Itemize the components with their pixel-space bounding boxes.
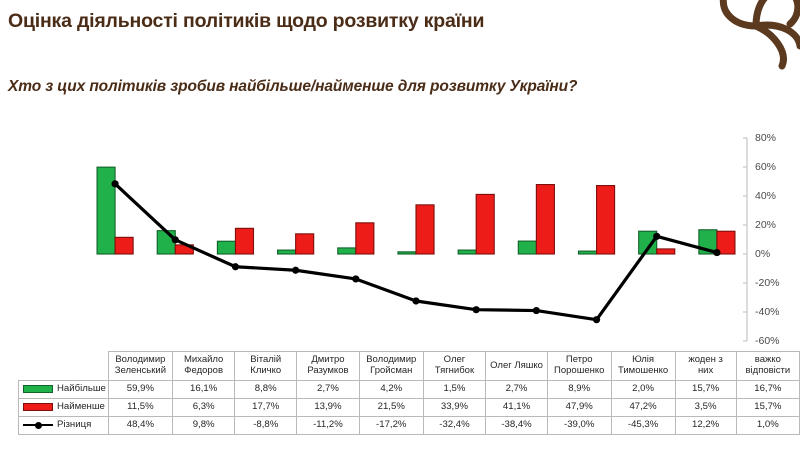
difference-marker-10 bbox=[713, 249, 720, 256]
table-cell: 13,9% bbox=[297, 399, 360, 417]
chart-svg bbox=[0, 125, 800, 355]
table-cell: 4,2% bbox=[359, 381, 423, 399]
y-axis-tick-label: 0% bbox=[755, 248, 770, 260]
table-cell: 17,7% bbox=[235, 399, 297, 417]
difference-marker-6 bbox=[473, 306, 480, 313]
table-col-header-4: ВолодимирГройсман bbox=[359, 352, 423, 381]
col-header-line-2: Тимошенко bbox=[614, 366, 673, 377]
table-cell: 47,9% bbox=[547, 399, 611, 417]
col-header-line-2: Кличко bbox=[237, 366, 294, 377]
legend-label: Різниця bbox=[57, 419, 91, 430]
table-cell: 1,0% bbox=[736, 417, 799, 435]
bar-least-6 bbox=[476, 194, 494, 254]
col-header-line-2: Тягнибок bbox=[426, 366, 484, 377]
table-body: Найбільше59,9%16,1%8,8%2,7%4,2%1,5%2,7%8… bbox=[19, 381, 800, 435]
bar-least-8 bbox=[597, 186, 615, 254]
col-header-line-2: Порошенко bbox=[550, 366, 609, 377]
bar-most-1 bbox=[157, 231, 175, 254]
bar-most-2 bbox=[217, 241, 235, 254]
difference-marker-9 bbox=[653, 233, 660, 240]
table-cell: 2,7% bbox=[297, 381, 360, 399]
table-row: Найменше11,5%6,3%17,7%13,9%21,5%33,9%41,… bbox=[19, 399, 800, 417]
bar-most-5 bbox=[398, 252, 416, 254]
table-col-header-10: важковідповісти bbox=[736, 352, 799, 381]
table-cell: 9,8% bbox=[172, 417, 235, 435]
y-axis-tick-label: 60% bbox=[755, 161, 776, 173]
legend-swatch-icon bbox=[22, 384, 56, 394]
bar-least-7 bbox=[536, 185, 554, 254]
y-axis-tick-label: -40% bbox=[755, 306, 780, 318]
table-cell: 15,7% bbox=[675, 381, 736, 399]
table-cell: -17,2% bbox=[359, 417, 423, 435]
bar-most-8 bbox=[578, 251, 596, 254]
y-axis-tick-label: 20% bbox=[755, 219, 776, 231]
table-cell: 8,8% bbox=[235, 381, 297, 399]
table-cell: 12,2% bbox=[675, 417, 736, 435]
table-cell: 33,9% bbox=[423, 399, 486, 417]
table-col-header-5: ОлегТягнибок bbox=[423, 352, 486, 381]
difference-marker-7 bbox=[533, 307, 540, 314]
bar-least-4 bbox=[356, 223, 374, 254]
table-row: Найбільше59,9%16,1%8,8%2,7%4,2%1,5%2,7%8… bbox=[19, 381, 800, 399]
table-cell: 47,2% bbox=[611, 399, 675, 417]
table-col-header-0: ВолодимирЗеленський bbox=[108, 352, 172, 381]
table-cell: 41,1% bbox=[486, 399, 548, 417]
table-col-header-1: МихайлоФедоров bbox=[172, 352, 235, 381]
difference-marker-3 bbox=[292, 267, 299, 274]
table-cell: 48,4% bbox=[108, 417, 172, 435]
difference-marker-1 bbox=[172, 236, 179, 243]
table-cell: -11,2% bbox=[297, 417, 360, 435]
bar-least-3 bbox=[296, 234, 314, 254]
table-col-header-9: жоден зних bbox=[675, 352, 736, 381]
bar-least-9 bbox=[657, 249, 675, 254]
table-col-header-2: ВіталійКличко bbox=[235, 352, 297, 381]
legend-difference: Різниця bbox=[19, 417, 109, 435]
difference-marker-2 bbox=[232, 263, 239, 270]
table-cell: 2,7% bbox=[486, 381, 548, 399]
table-header: ВолодимирЗеленськийМихайлоФедоровВіталій… bbox=[19, 352, 800, 381]
bar-most-4 bbox=[338, 248, 356, 254]
table-corner-cell bbox=[19, 352, 109, 381]
table-cell: -45,3% bbox=[611, 417, 675, 435]
bar-most-3 bbox=[278, 250, 296, 254]
table-cell: -39,0% bbox=[547, 417, 611, 435]
table-col-header-3: ДмитроРазумков bbox=[297, 352, 360, 381]
table-cell: 6,3% bbox=[172, 399, 235, 417]
table-cell: 21,5% bbox=[359, 399, 423, 417]
table-cell: 2,0% bbox=[611, 381, 675, 399]
bar-most-6 bbox=[458, 250, 476, 254]
table-cell: 59,9% bbox=[108, 381, 172, 399]
col-header-line-2: відповісти bbox=[739, 366, 797, 377]
bar-least-5 bbox=[416, 205, 434, 254]
table-cell: -32,4% bbox=[423, 417, 486, 435]
y-axis-tick-label: -60% bbox=[755, 335, 780, 347]
table-row: Різниця48,4%9,8%-8,8%-11,2%-17,2%-32,4%-… bbox=[19, 417, 800, 435]
table-cell: 3,5% bbox=[675, 399, 736, 417]
y-axis-tick-label: -20% bbox=[755, 277, 780, 289]
legend-label: Найменше bbox=[57, 401, 105, 412]
chart-subtitle-question: Хто з цих політиків зробив найбільше/най… bbox=[8, 78, 577, 96]
difference-marker-0 bbox=[111, 180, 118, 187]
chart-plot-area bbox=[0, 125, 800, 355]
legend-most: Найбільше bbox=[19, 381, 109, 399]
table-cell: -38,4% bbox=[486, 417, 548, 435]
difference-marker-4 bbox=[352, 275, 359, 282]
difference-marker-8 bbox=[593, 316, 600, 323]
legend-swatch-icon bbox=[22, 402, 56, 412]
flower-logo-icon bbox=[694, 0, 800, 70]
table-cell: 16,1% bbox=[172, 381, 235, 399]
table-cell: -8,8% bbox=[235, 417, 297, 435]
table-cell: 15,7% bbox=[736, 399, 799, 417]
table-col-header-7: ПетроПорошенко bbox=[547, 352, 611, 381]
table-cell: 16,7% bbox=[736, 381, 799, 399]
bar-least-2 bbox=[235, 228, 253, 254]
bar-most-0 bbox=[97, 167, 115, 254]
col-header-line-2: Зеленський bbox=[111, 366, 170, 377]
table-cell: 11,5% bbox=[108, 399, 172, 417]
table-cell: 1,5% bbox=[423, 381, 486, 399]
table-header-row: ВолодимирЗеленськийМихайлоФедоровВіталій… bbox=[19, 352, 800, 381]
legend-least: Найменше bbox=[19, 399, 109, 417]
bar-most-7 bbox=[518, 241, 536, 254]
table-col-header-6: Олег Ляшко bbox=[486, 352, 548, 381]
col-header-line-2: Гройсман bbox=[362, 366, 421, 377]
col-header-line-2: Федоров bbox=[175, 366, 233, 377]
col-header-line-1: Олег Ляшко bbox=[488, 361, 545, 372]
page-title: Оцінка діяльності політиків щодо розвитк… bbox=[8, 10, 484, 33]
bar-least-0 bbox=[115, 237, 133, 254]
data-table: ВолодимирЗеленськийМихайлоФедоровВіталій… bbox=[18, 351, 800, 435]
col-header-line-2: Разумков bbox=[299, 366, 357, 377]
legend-label: Найбільше bbox=[57, 383, 106, 394]
legend-swatch-icon bbox=[22, 420, 56, 430]
col-header-line-2: них bbox=[678, 366, 734, 377]
table-col-header-8: ЮліяТимошенко bbox=[611, 352, 675, 381]
y-axis-tick-label: 80% bbox=[755, 132, 776, 144]
table-cell: 8,9% bbox=[547, 381, 611, 399]
difference-marker-5 bbox=[412, 297, 419, 304]
y-axis-tick-label: 40% bbox=[755, 190, 776, 202]
